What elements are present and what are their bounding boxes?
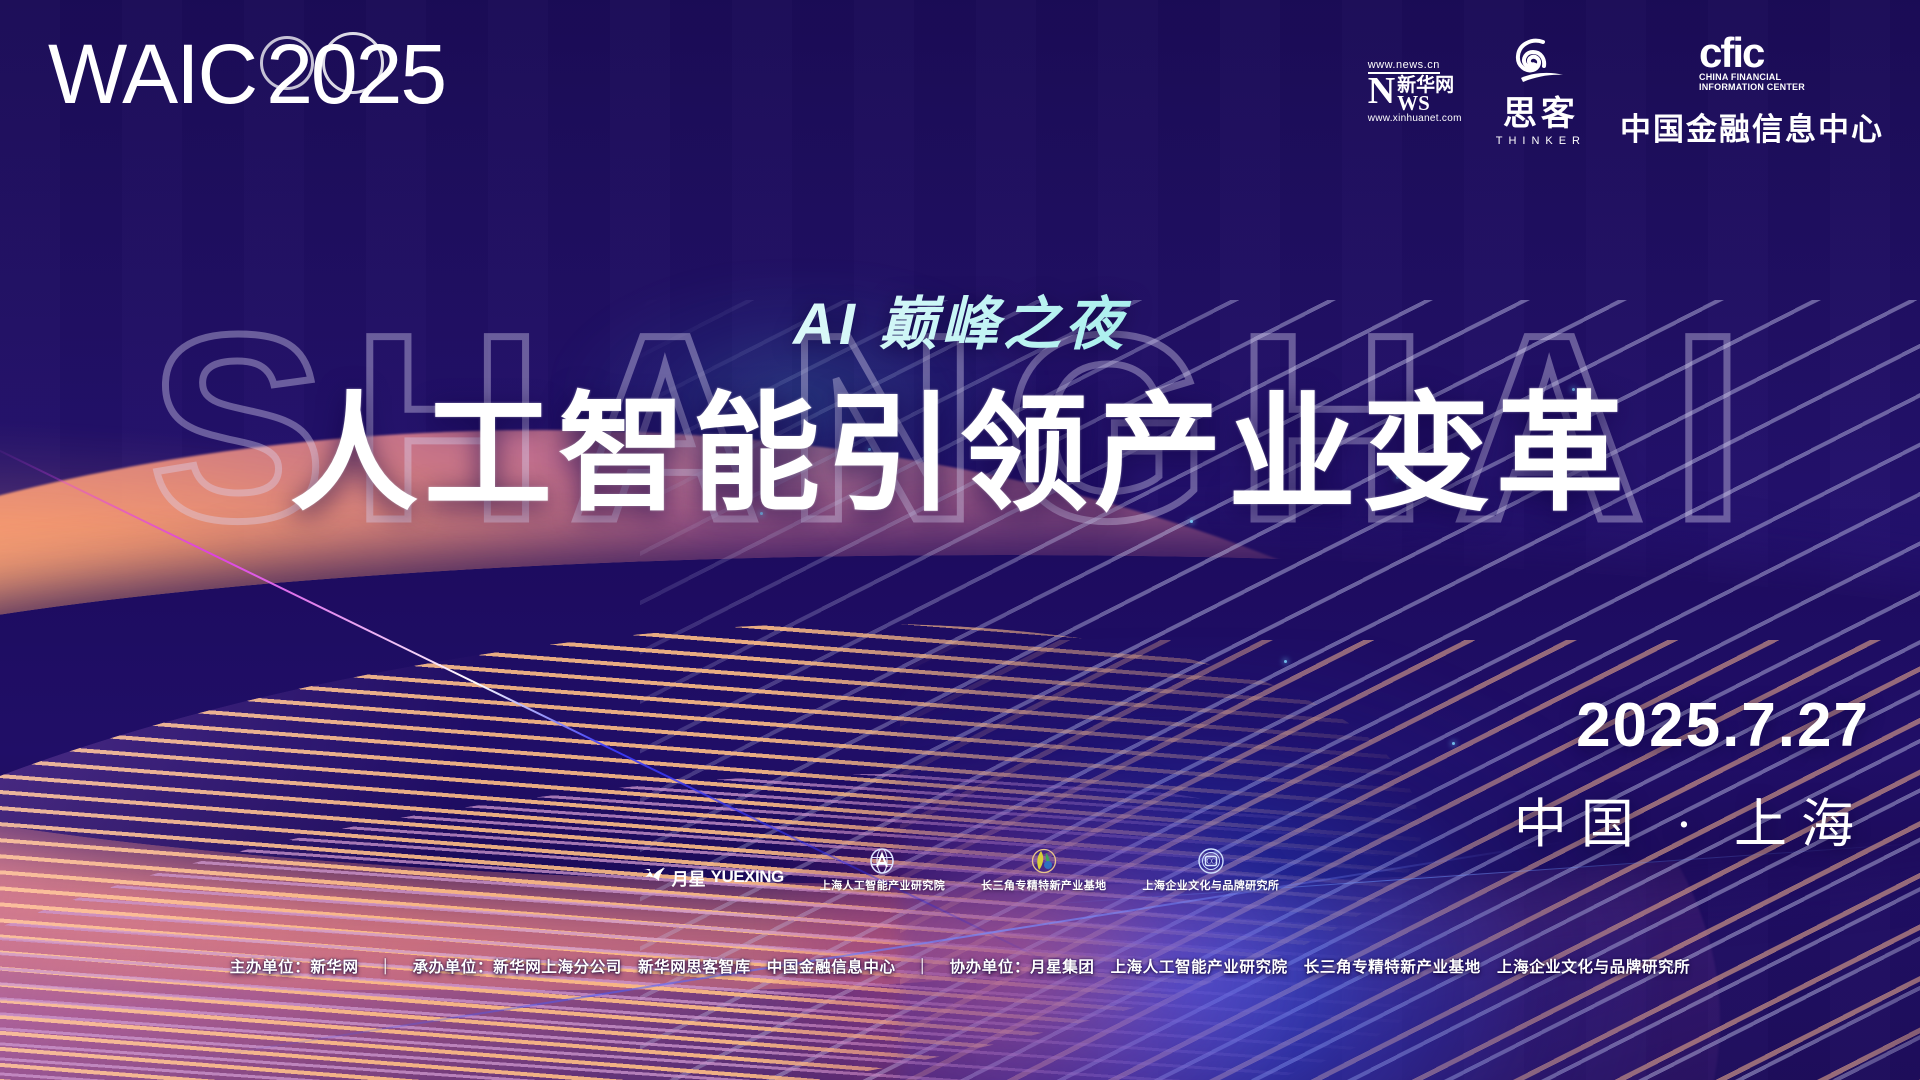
organizer-values: 新华网上海分公司 新华网思客智库 中国金融信息中心 bbox=[493, 959, 896, 976]
cfic-logo[interactable]: cfic CHINA FINANCIAL INFORMATION CENTER … bbox=[1620, 34, 1884, 149]
waic-wordmark: WAIC bbox=[48, 32, 256, 116]
yuexing-cn: 月星 bbox=[672, 865, 706, 890]
thinker-cn-name: 思客 bbox=[1503, 98, 1579, 132]
sponsor-logo-row: 月星 YUEXING 上海人工智能产业研究院 bbox=[0, 848, 1920, 893]
host-label: 主办单位： bbox=[230, 959, 311, 976]
cfic-subtitle-line2: INFORMATION CENTER bbox=[1699, 82, 1805, 92]
cfic-wordmark: cfic bbox=[1699, 34, 1805, 72]
event-poster: SHANGHAI WAIC 2025 www.news.cn N 新华网 WS … bbox=[0, 0, 1920, 1080]
thinker-en-name: THINKER bbox=[1496, 135, 1586, 147]
ring-decoration-icon bbox=[260, 36, 314, 90]
thinker-swirl-icon bbox=[1513, 36, 1569, 88]
event-date: 2025.7.27 bbox=[1576, 690, 1870, 761]
yangtze-delta-icon bbox=[1031, 848, 1057, 874]
credits-separator: ｜ bbox=[901, 959, 945, 976]
sponsor-saiia[interactable]: 上海人工智能产业研究院 bbox=[820, 848, 945, 893]
cfic-subtitle-line1: CHINA FINANCIAL bbox=[1699, 72, 1805, 82]
sponsor-yuexing[interactable]: 月星 YUEXING bbox=[641, 864, 784, 893]
brand-institute-icon: CC bbox=[1198, 848, 1224, 874]
event-city: 中国 · 上海 bbox=[1514, 782, 1868, 858]
xinhuanet-letter-n: N bbox=[1368, 76, 1395, 107]
xinhuanet-ws: WS bbox=[1397, 95, 1454, 112]
event-kicker: AI 巅峰之夜 bbox=[0, 277, 1920, 361]
sponsor-name: 长三角专精特新产业基地 bbox=[981, 877, 1106, 893]
saiia-globe-icon bbox=[869, 848, 895, 874]
thinker-logo[interactable]: 思客 THINKER bbox=[1496, 36, 1586, 147]
event-headline: 人工智能引领产业变革 bbox=[0, 350, 1920, 535]
sponsor-name: 上海企业文化与品牌研究所 bbox=[1143, 877, 1280, 893]
credits-separator: ｜ bbox=[364, 959, 408, 976]
sparkle-dot bbox=[1452, 742, 1455, 745]
sponsor-name: 上海人工智能产业研究院 bbox=[820, 877, 945, 893]
xinhuanet-url-bottom: www.xinhuanet.com bbox=[1368, 113, 1462, 124]
waic-logo: WAIC 2025 bbox=[48, 32, 445, 116]
waic-year: 2025 bbox=[266, 32, 445, 116]
coorganizer-values: 月星集团 上海人工智能产业研究院 长三角专精特新产业基地 上海企业文化与品牌研究… bbox=[1030, 959, 1690, 976]
organizer-label: 承办单位： bbox=[413, 959, 494, 976]
coorganizer-label: 协办单位： bbox=[950, 959, 1031, 976]
ring-decoration-icon bbox=[322, 32, 384, 94]
yuexing-en: YUEXING bbox=[711, 867, 784, 887]
xinhuanet-logo[interactable]: www.news.cn N 新华网 WS www.xinhuanet.com bbox=[1368, 59, 1462, 124]
yuexing-star-icon bbox=[641, 865, 667, 889]
sparkle-dot bbox=[1284, 660, 1287, 663]
partner-logo-row: www.news.cn N 新华网 WS www.xinhuanet.com 思… bbox=[1368, 34, 1884, 149]
svg-text:CC: CC bbox=[1206, 858, 1216, 866]
credits-bar: 主办单位：新华网 ｜ 承办单位：新华网上海分公司 新华网思客智库 中国金融信息中… bbox=[0, 955, 1920, 977]
cfic-cn-name: 中国金融信息中心 bbox=[1620, 104, 1884, 149]
sponsor-brand-institute[interactable]: CC 上海企业文化与品牌研究所 bbox=[1143, 848, 1280, 893]
sponsor-yangtze-delta[interactable]: 长三角专精特新产业基地 bbox=[981, 848, 1106, 893]
yuexing-logo-mark: 月星 YUEXING bbox=[641, 864, 784, 890]
host-value: 新华网 bbox=[310, 959, 358, 976]
